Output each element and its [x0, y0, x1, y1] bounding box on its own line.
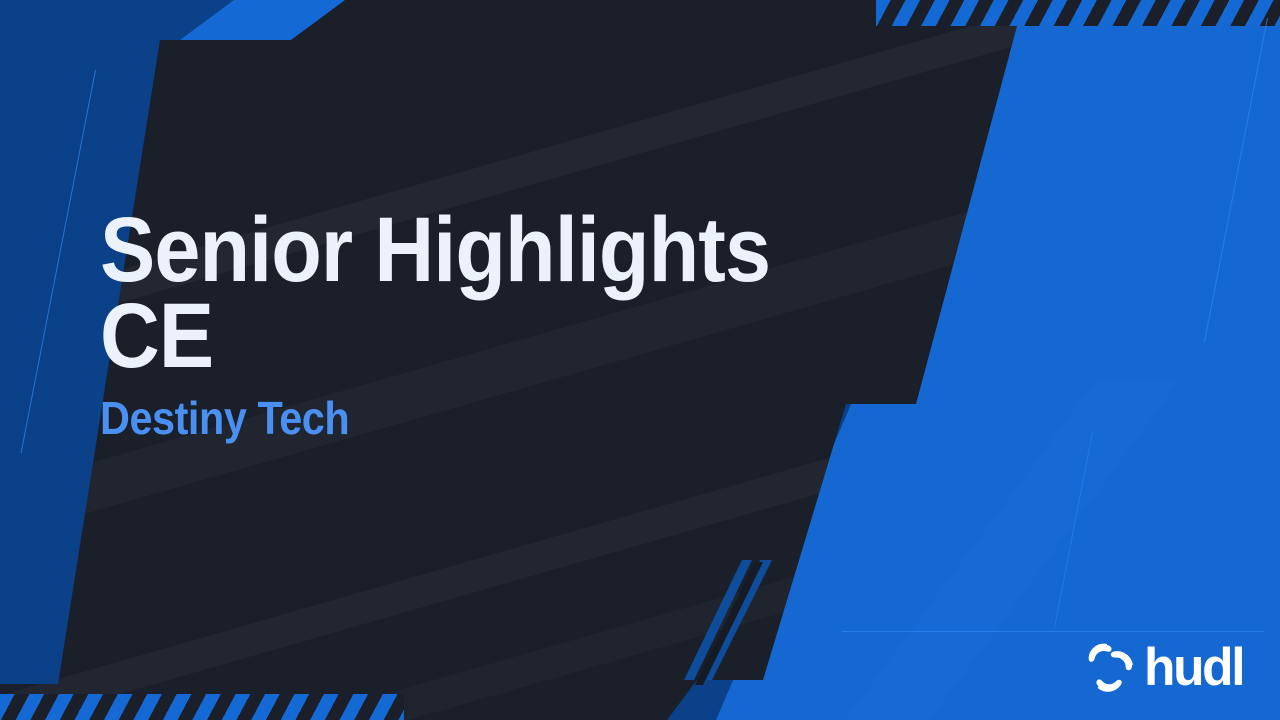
stripes-top-right: [876, 0, 1280, 26]
page-title: Senior Highlights CE: [100, 208, 838, 379]
subtitle: Destiny Tech: [100, 395, 838, 441]
hudl-wordmark: hudl: [1144, 641, 1243, 694]
highlight-title-card: Senior Highlights CE Destiny Tech hudl: [0, 0, 1280, 720]
hudl-logo: hudl: [1083, 641, 1246, 694]
title-block: Senior Highlights CE Destiny Tech: [100, 208, 920, 441]
hairline-horizontal: [842, 631, 1264, 632]
hudl-triskelion-icon: [1083, 642, 1137, 694]
stripes-bottom-left: [0, 694, 404, 720]
